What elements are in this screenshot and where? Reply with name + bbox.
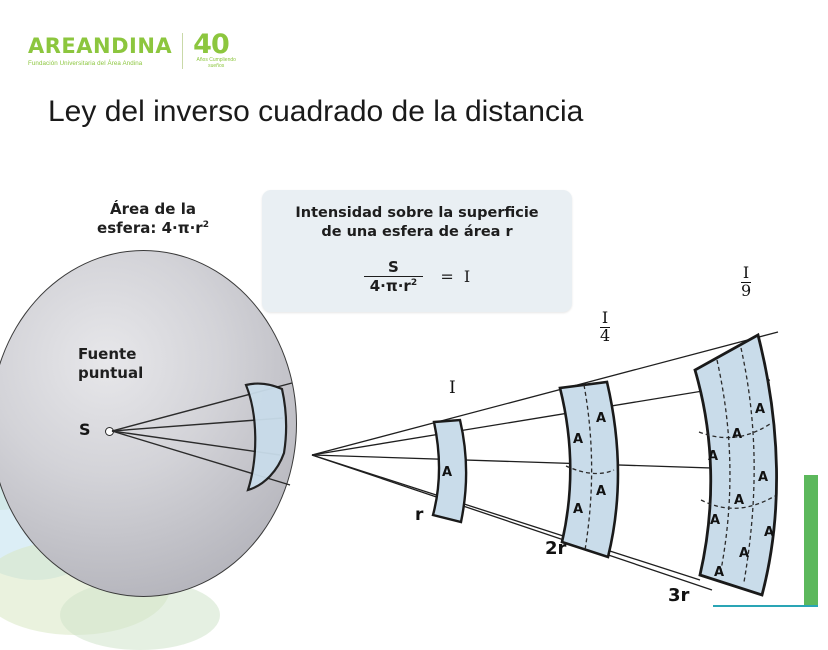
patch-cell-label: A (714, 565, 724, 580)
intensity-fraction-3r: I 9 (741, 265, 751, 300)
intensity-fraction-2r: I 4 (600, 310, 610, 345)
patch-cell-label: A (442, 465, 452, 480)
intensity-label-3r: I 9 (741, 265, 751, 300)
patch-r: A (433, 420, 466, 522)
patch-cell-label: A (596, 484, 606, 499)
logo-wordmark-block: AREANDINA Fundación Universitaria del Ár… (28, 36, 172, 67)
patch-cell-label: A (734, 493, 744, 508)
patch-cell-label: A (739, 546, 749, 561)
distance-label-2r: 2r (545, 538, 566, 559)
patch-cell-label: A (573, 432, 583, 447)
patch-cell-label: A (710, 513, 720, 528)
anniversary-caption: Años Cumpliendo sueños (193, 58, 239, 70)
patch-cell-label: A (755, 402, 765, 417)
page-title: Ley del inverso cuadrado de la distancia (48, 95, 583, 129)
intensity-numerator-2r: I (600, 310, 610, 327)
intensity-denominator-3r: 9 (741, 282, 751, 300)
anniversary-number: 40 (193, 31, 239, 58)
patch-cell-label: A (758, 470, 768, 485)
intensity-numerator-3r: I (741, 265, 751, 282)
intensity-label-r: I (449, 378, 456, 398)
green-accent-bar (804, 475, 818, 605)
patch-cell-label: A (596, 411, 606, 426)
areandina-logo: AREANDINA Fundación Universitaria del Ár… (28, 30, 239, 72)
teal-accent-line (713, 605, 818, 607)
logo-wordmark: AREANDINA (28, 36, 172, 57)
patch-cell-label: A (573, 502, 583, 517)
patch-cell-label: A (708, 449, 718, 464)
inverse-square-law-diagram: Área de la esfera: 4·π·r2 Fuente puntual… (0, 170, 828, 610)
distance-label-r: r (415, 505, 423, 525)
intensity-label-2r: I 4 (600, 310, 610, 345)
logo-subtitle: Fundación Universitaria del Área Andina (28, 60, 172, 67)
patch-cell-label: A (732, 427, 742, 442)
intensity-denominator-2r: 4 (600, 327, 610, 345)
patch-2r: A A A A (560, 382, 618, 557)
patch-cell-label: A (764, 525, 774, 540)
cone-patches-diagram: A A A A A A A A A (0, 170, 828, 610)
anniversary-mark: 40 Años Cumpliendo sueños (193, 31, 239, 71)
logo-divider (182, 33, 183, 69)
distance-label-3r: 3r (668, 585, 689, 606)
patch-3r: A A A A A A A A A (695, 335, 777, 595)
